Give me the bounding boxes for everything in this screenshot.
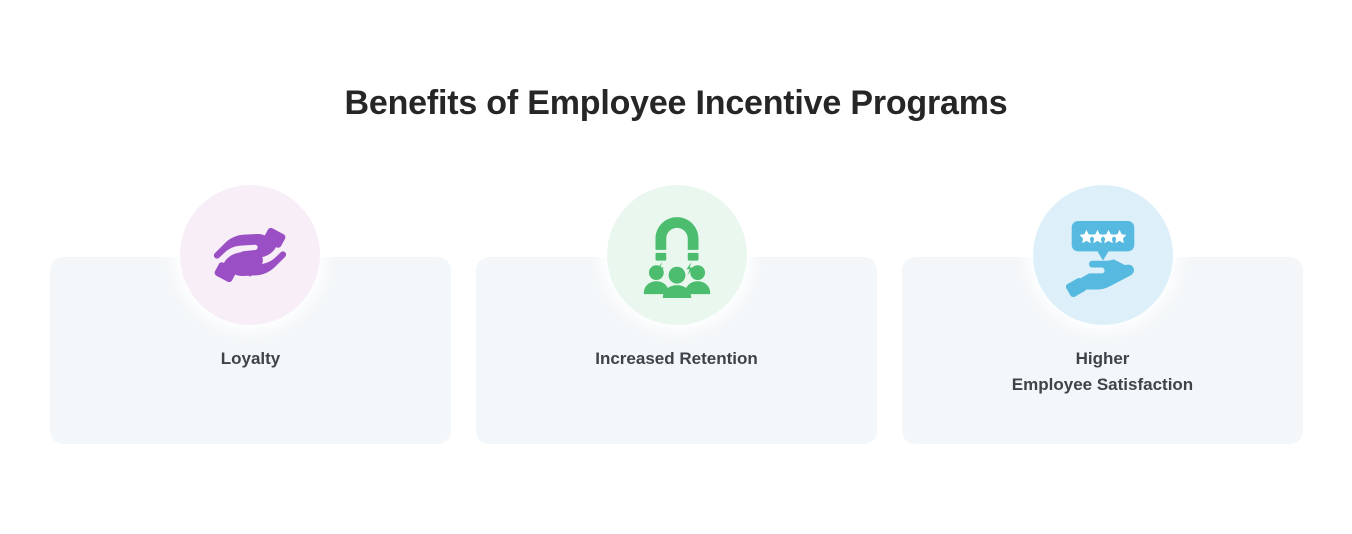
card-label: Higher Employee Satisfaction (902, 346, 1303, 398)
card-label: Loyalty (50, 346, 451, 372)
hands-holding-heart-icon (180, 185, 320, 325)
benefit-icon-higher-employee-satisfaction (1033, 185, 1173, 325)
card-label-line: Employee Satisfaction (1012, 375, 1193, 394)
magnet-attracting-people-icon (607, 185, 747, 325)
card-label: Increased Retention (476, 346, 877, 372)
page-title: Benefits of Employee Incentive Programs (0, 84, 1352, 123)
infographic-page: Benefits of Employee Incentive Programs … (0, 0, 1352, 534)
benefit-icon-loyalty (180, 185, 320, 325)
card-label-line: Increased Retention (595, 349, 758, 368)
card-label-line: Higher (1076, 349, 1130, 368)
hand-holding-star-rating-icon (1033, 185, 1173, 325)
benefit-icon-increased-retention (607, 185, 747, 325)
card-label-line: Loyalty (221, 349, 281, 368)
